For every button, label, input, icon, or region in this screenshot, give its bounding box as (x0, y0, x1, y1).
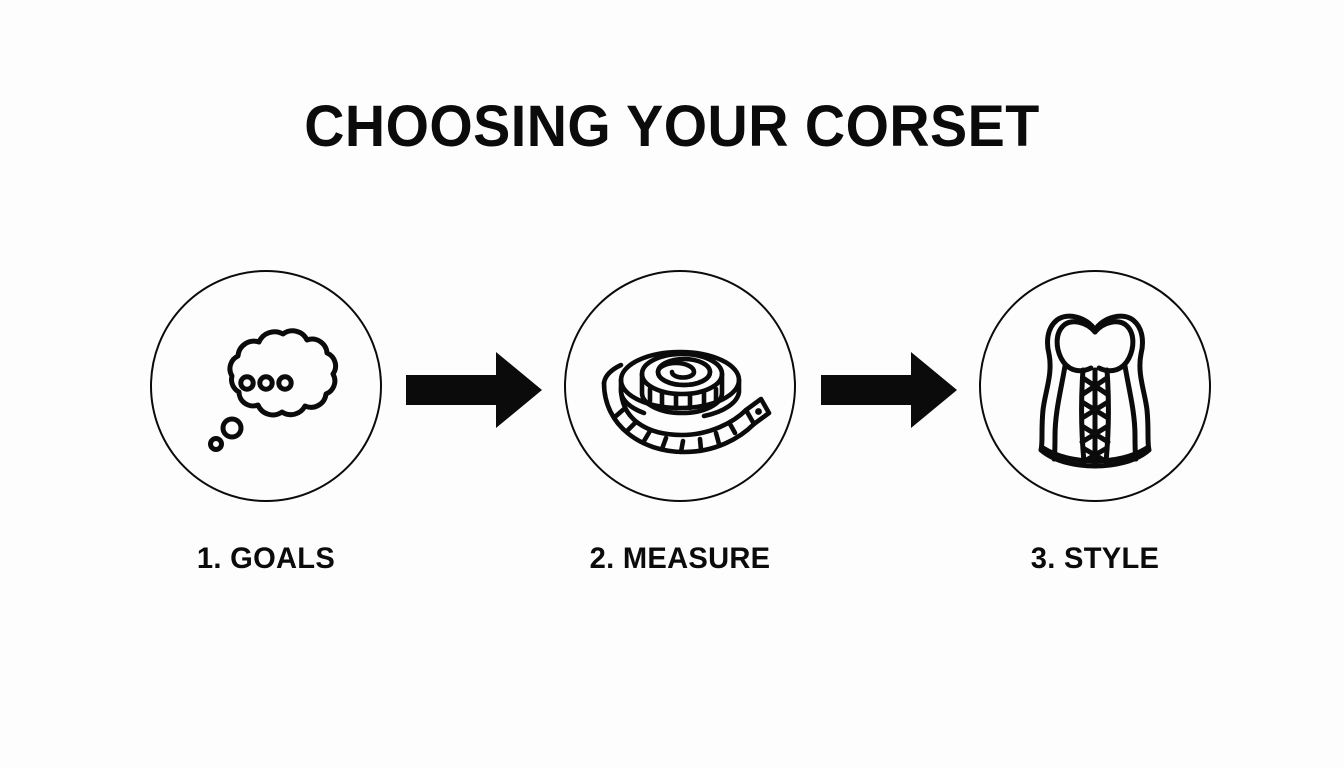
thought-bubble-icon (150, 270, 382, 502)
step-item-goals[interactable]: 1. GOALS (150, 270, 382, 590)
corset-icon (979, 270, 1211, 502)
step-item-measure[interactable]: 2. MEASURE (564, 270, 796, 590)
arrow-right-2-icon (821, 350, 957, 430)
infographic-canvas: CHOOSING YOUR CORSET 1. GOALS (0, 0, 1344, 768)
step-label-style: 3. STYLE (944, 542, 1247, 576)
step-label-measure: 2. MEASURE (529, 542, 832, 576)
step-item-style[interactable]: 3. STYLE (979, 270, 1211, 590)
arrow-right-1-icon (406, 350, 542, 430)
step-label-goals: 1. GOALS (115, 542, 418, 576)
measuring-tape-icon (564, 270, 796, 502)
steps-row: 1. GOALS (0, 0, 1344, 768)
